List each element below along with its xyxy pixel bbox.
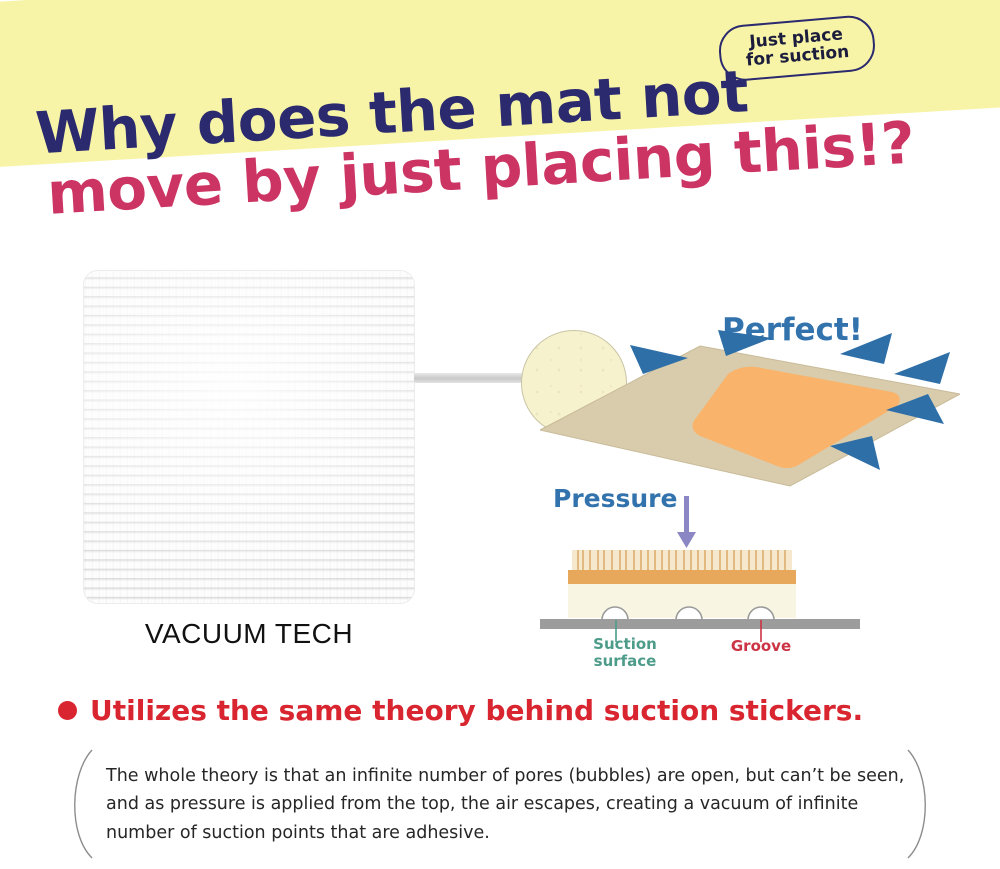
layer-striped-base [572,550,792,570]
callout-heading: Utilizes the same theory behind suction … [58,694,863,727]
suction-surface-label-line1: Suction [570,636,680,653]
mat-highlight [84,271,414,603]
just-place-badge: Just place for suction [717,14,877,83]
suction-surface-label: Suction surface [570,636,680,671]
suction-surface-label-line2: surface [570,653,680,670]
bullet-dot-icon [58,701,77,720]
mat-caption: VACUUM TECH [84,618,414,650]
callout-body-text: The whole theory is that an infinite num… [106,762,906,847]
infographic-canvas: Why does the mat not move by just placin… [0,0,1000,869]
arrow-top-right [840,333,892,364]
layer-orange-band [568,570,796,584]
suction-sheet-illustration [540,330,960,500]
arrow-top-mid [718,330,772,356]
vacuum-mat-image [84,271,414,603]
callout-body-box: The whole theory is that an infinite num… [60,748,940,860]
banner-title-group: Why does the mat not move by just placin… [0,0,1000,250]
header-banner: Why does the mat not move by just placin… [0,0,1000,250]
callout-heading-text: Utilizes the same theory behind suction … [90,694,863,727]
groove-label: Groove [706,637,816,655]
floor-surface [540,619,860,629]
right-bracket-icon [902,748,940,860]
arrow-right-up [894,352,950,384]
pressure-arrow-icon [677,496,696,548]
left-bracket-icon [60,748,98,860]
